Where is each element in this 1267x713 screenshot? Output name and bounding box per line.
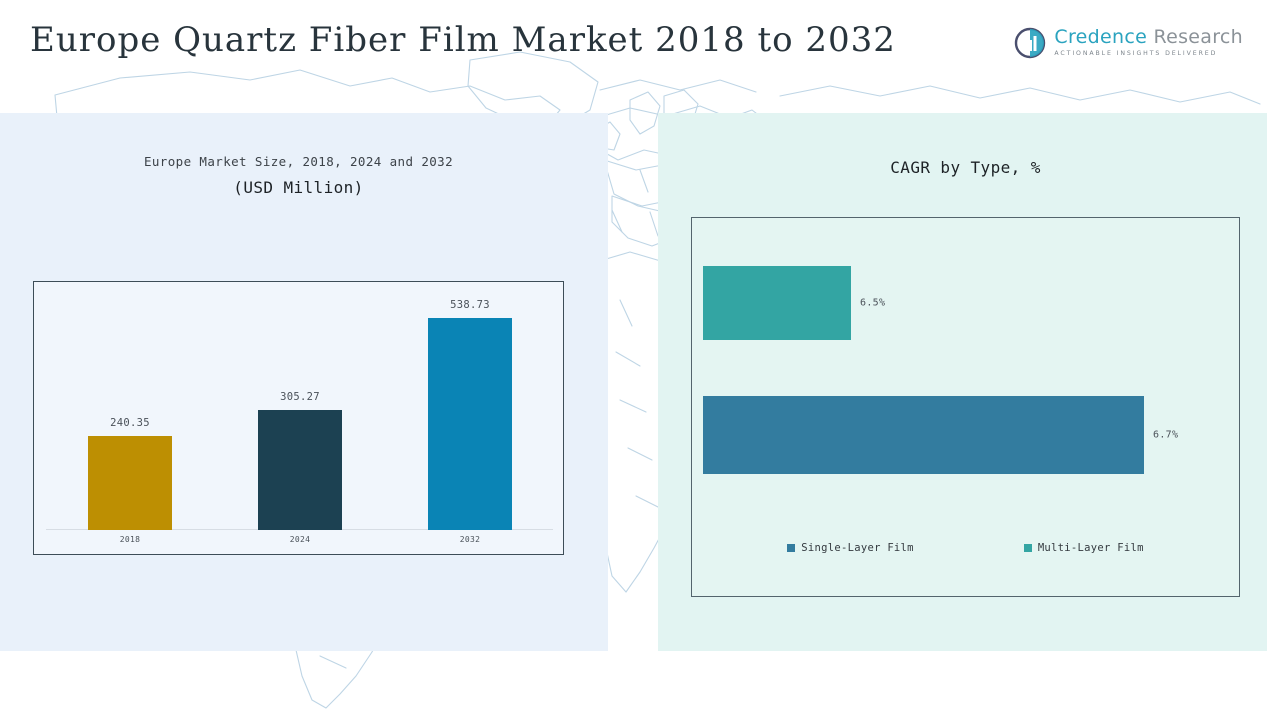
europe-market-size-chart: 240.35 2018 305.27 2024 538.73 2032 <box>33 281 564 555</box>
brand-logo[interactable]: Credence Research Actionable Insights De… <box>1014 27 1243 59</box>
page-title: Europe Quartz Fiber Film Market 2018 to … <box>30 20 896 60</box>
right-chart-title: CAGR by Type, % <box>691 158 1240 177</box>
column-2024[interactable]: 305.27 2024 <box>258 410 342 530</box>
brand-name: Credence Research <box>1054 28 1243 47</box>
right-chart-heading: CAGR by Type, % <box>691 158 1240 177</box>
bar-fill <box>703 266 851 340</box>
bar-fill <box>703 396 1144 474</box>
legend-swatch-icon <box>787 544 795 552</box>
bar-value-label: 6.7% <box>1153 430 1178 441</box>
left-chart-title: Europe Market Size, 2018, 2024 and 2032 <box>33 154 564 169</box>
bar-single-layer-film[interactable]: 6.7% <box>703 396 1144 474</box>
header: Europe Quartz Fiber Film Market 2018 to … <box>0 0 1267 113</box>
column-2018[interactable]: 240.35 2018 <box>88 436 172 530</box>
brand-name-primary: Credence <box>1054 26 1147 48</box>
column-category-label: 2024 <box>290 535 310 544</box>
column-category-label: 2032 <box>460 535 480 544</box>
brand-name-secondary: Research <box>1153 26 1243 48</box>
column-2032[interactable]: 538.73 2032 <box>428 318 512 530</box>
bar-value-label: 6.5% <box>860 298 885 309</box>
brand-tagline: Actionable Insights Delivered <box>1054 51 1243 57</box>
left-chart-heading: Europe Market Size, 2018, 2024 and 2032 … <box>33 154 564 197</box>
chart-legend: Single-Layer Film Multi-Layer Film <box>692 542 1239 554</box>
legend-item-multi-layer-film[interactable]: Multi-Layer Film <box>1024 542 1144 554</box>
cagr-by-type-chart: 6.5% 6.7% Single-Layer Film Multi-Layer … <box>691 217 1240 597</box>
column-value-label: 240.35 <box>110 417 150 429</box>
column-value-label: 305.27 <box>280 391 320 403</box>
brand-logo-text: Credence Research Actionable Insights De… <box>1054 28 1243 57</box>
column-category-label: 2018 <box>120 535 140 544</box>
left-chart-subtitle: (USD Million) <box>33 178 564 197</box>
legend-item-single-layer-film[interactable]: Single-Layer Film <box>787 542 914 554</box>
column-value-label: 538.73 <box>450 299 490 311</box>
column-plot-area: 240.35 2018 305.27 2024 538.73 2032 <box>34 282 563 554</box>
bar-chart-circle-icon <box>1014 27 1046 59</box>
legend-label: Multi-Layer Film <box>1038 542 1144 554</box>
legend-swatch-icon <box>1024 544 1032 552</box>
legend-label: Single-Layer Film <box>801 542 914 554</box>
bar-multi-layer-film[interactable]: 6.5% <box>703 266 851 340</box>
